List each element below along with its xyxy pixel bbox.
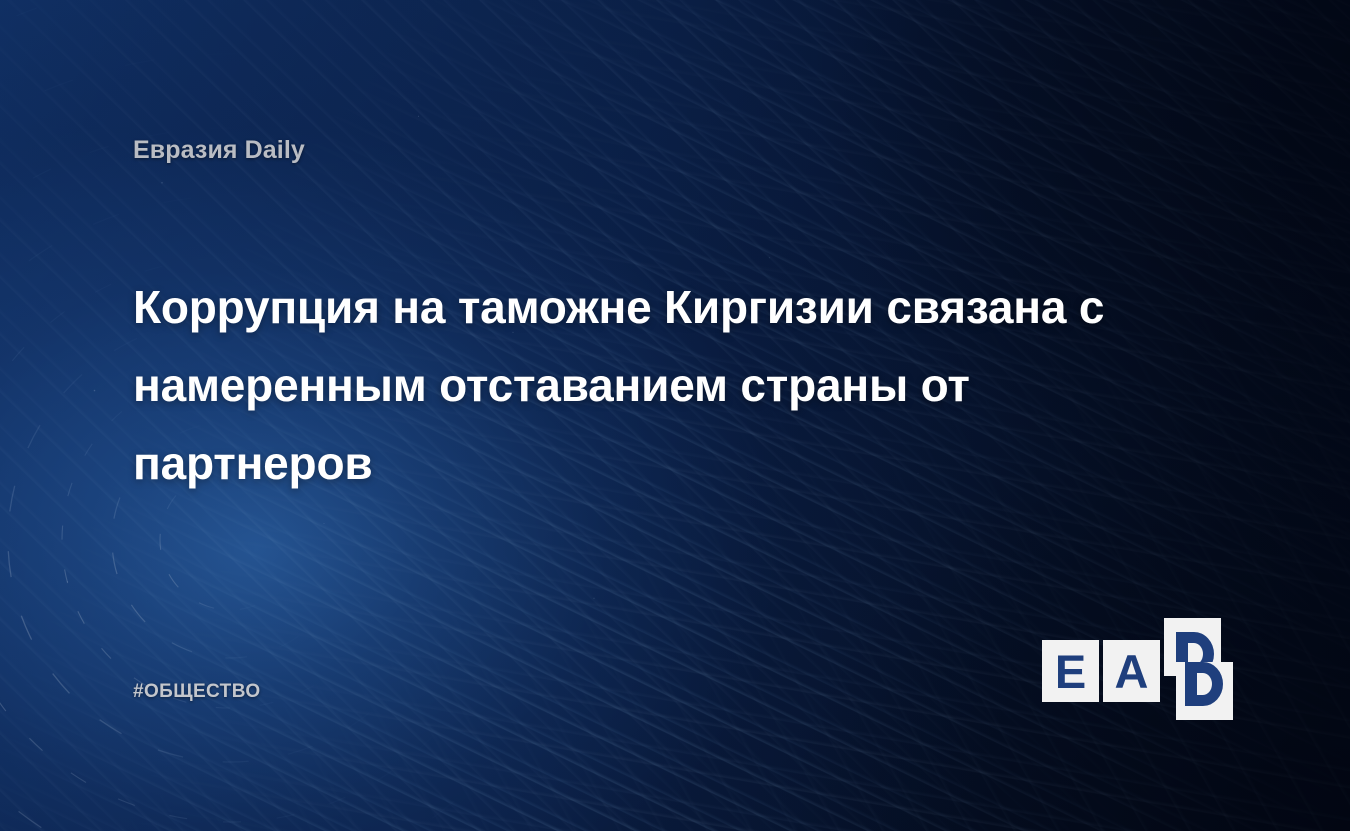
logo-tile-e: E — [1042, 640, 1099, 702]
logo-letter-d-lower — [1176, 662, 1233, 720]
logo-tile-d-lower — [1176, 662, 1233, 720]
category-tag: #ОБЩЕСТВО — [133, 681, 261, 703]
logo-tile-a: A — [1103, 640, 1160, 702]
card-content: Евразия Daily Коррупция на таможне Кирги… — [0, 0, 1350, 831]
logo-letter-e: E — [1055, 648, 1086, 695]
site-brand-name: Евразия Daily — [133, 136, 305, 165]
logo-letter-a: A — [1115, 648, 1149, 695]
article-headline: Коррупция на таможне Киргизии связана с … — [133, 268, 1173, 502]
article-share-card: Евразия Daily Коррупция на таможне Кирги… — [0, 0, 1350, 831]
eadaily-logo: E A — [1042, 618, 1232, 720]
